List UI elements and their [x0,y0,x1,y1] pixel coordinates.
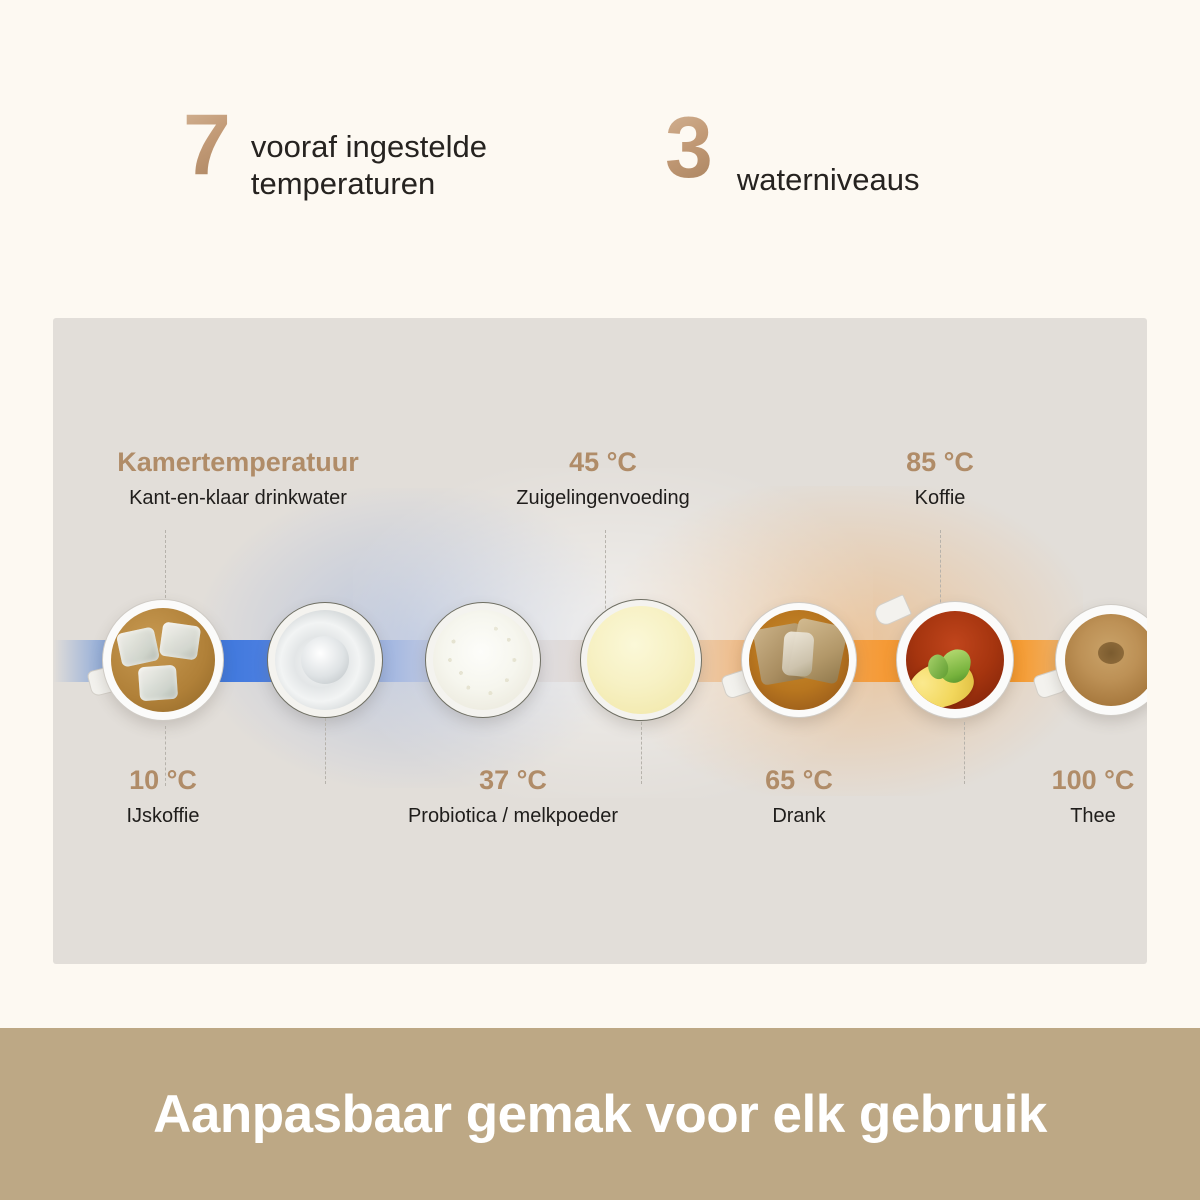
preset-temp-value: 10 °C [53,766,313,796]
preset-temp-value: 85 °C [775,448,1105,478]
preset-label-room-temperature: Kamertemperatuur Kant-en-klaar drinkwate… [53,448,463,509]
preset-temp-value: 45 °C [438,448,768,478]
connector-dash-37c [325,718,326,784]
stat-preset-temperatures: 7 vooraf ingestelde temperaturen [183,105,487,202]
cup-slot-lemon-tea [875,580,1035,740]
ice-cube-icon [159,622,201,661]
preset-label-45c: 45 °C Zuigelingenvoeding [438,448,768,509]
preset-temp-name: IJskoffie [53,805,313,827]
cup-slot-espresso [1031,580,1147,740]
milk-glass-icon [425,602,541,718]
preset-temp-name: Probiotica / melkpoeder [363,805,663,827]
stat-label-line-1: vooraf ingestelde [251,129,487,164]
preset-temp-value: Kamertemperatuur [53,448,463,478]
preset-label-65c: 65 °C Drank [649,766,949,827]
cup-slot-teabag [719,580,879,740]
water-glass-icon [267,602,383,718]
preset-temp-value: 37 °C [363,766,663,796]
preset-temp-value: 100 °C [943,766,1147,796]
lemon-tea-cup-icon [896,601,1014,719]
iced-coffee-liquid [111,608,215,712]
formula-surface [587,606,695,714]
stat-label-water-levels: waterniveaus [737,162,920,199]
connector-dash-65c [641,722,642,784]
preset-temp-name: Drank [649,805,949,827]
preset-temp-name: Kant-en-klaar drinkwater [53,487,463,509]
preset-temp-value: 65 °C [649,766,949,796]
formula-cup-icon [580,599,702,721]
stat-label-line-2: temperaturen [251,166,435,201]
cup-slot-milk [403,580,563,740]
cup-handle-icon [872,594,912,628]
espresso-cup-icon [1055,604,1147,716]
cup-slot-formula [561,580,721,740]
bottom-banner: Aanpasbaar gemak voor elk gebruik [0,1028,1200,1200]
teabag-highlight [782,631,815,677]
banner-headline: Aanpasbaar gemak voor elk gebruik [153,1084,1047,1145]
ice-cube-icon [116,626,160,667]
preset-label-100c: 100 °C Thee [943,766,1147,827]
espresso-crema [1065,614,1147,706]
water-surface [275,610,375,710]
lemon-tea-surface [906,611,1004,709]
stat-number-3: 3 [665,108,711,190]
preset-label-10c: 10 °C IJskoffie [53,766,313,827]
teabag-cup-icon [741,602,857,718]
header-stats: 7 vooraf ingestelde temperaturen 3 water… [0,0,1200,300]
milk-bubbles [437,614,529,706]
milk-surface [433,610,533,710]
preset-label-37c: 37 °C Probiotica / melkpoeder [363,766,663,827]
preset-label-85c: 85 °C Koffie [775,448,1105,509]
ice-cube-icon [138,665,178,702]
stat-label-preset-temperatures: vooraf ingestelde temperaturen [251,129,487,202]
preset-temp-name: Thee [943,805,1147,827]
preset-temp-name: Koffie [775,487,1105,509]
iced-coffee-cup-icon [102,599,224,721]
water-highlight [301,636,349,684]
temperature-presets-panel: Kamertemperatuur Kant-en-klaar drinkwate… [53,318,1147,964]
stat-water-levels: 3 waterniveaus [665,108,920,199]
preset-temp-name: Zuigelingenvoeding [438,487,768,509]
tea-surface [749,610,849,710]
crema-center [1098,642,1124,664]
stat-number-7: 7 [183,105,229,187]
cup-slot-water [245,580,405,740]
cup-row [53,580,1147,740]
cup-slot-iced-coffee [83,580,243,740]
